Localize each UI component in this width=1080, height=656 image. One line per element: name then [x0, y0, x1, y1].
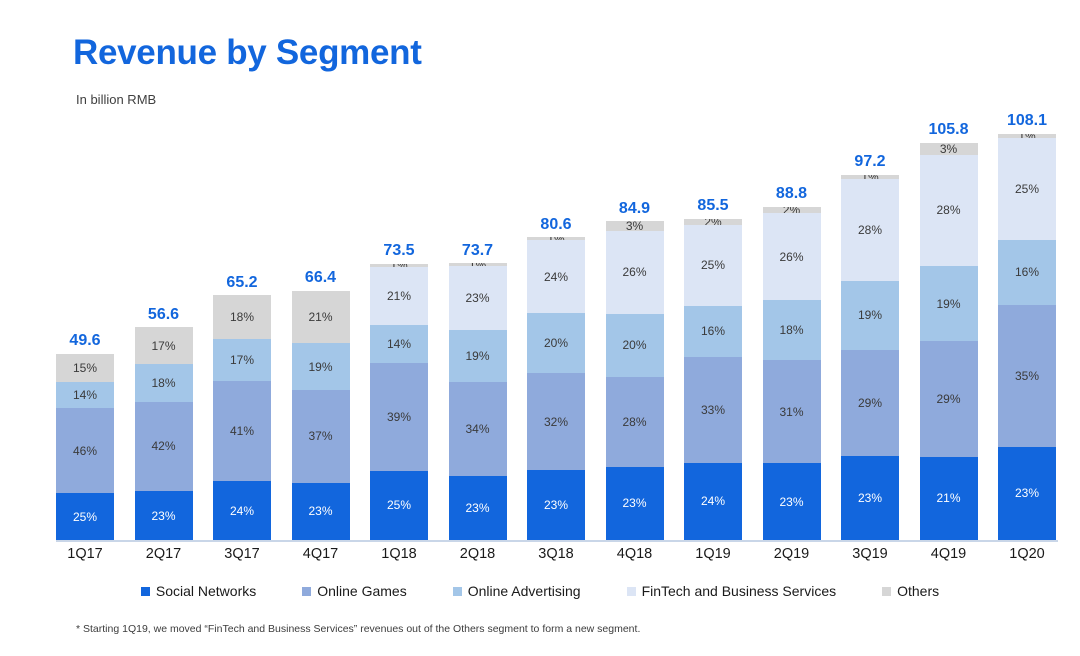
bar-segment-label: 15%	[73, 362, 97, 374]
bar-segment[interactable]: 2%	[763, 207, 821, 214]
bar-segment-label: 19%	[465, 350, 489, 362]
bar-segment-label: 33%	[701, 404, 725, 416]
bar-stack: 17%18%42%23%	[135, 327, 193, 540]
bar-column[interactable]: 88.82%26%18%31%23%	[763, 112, 821, 540]
x-axis-tick-label: 4Q19	[920, 546, 978, 562]
bar-segment-label: 23%	[1015, 487, 1039, 499]
bar-column[interactable]: 65.218%17%41%24%	[213, 112, 271, 540]
bar-segment[interactable]: 21%	[920, 457, 978, 540]
bar-segment[interactable]: 20%	[527, 313, 585, 374]
bar-segment[interactable]: 23%	[292, 483, 350, 540]
bar-segment-label: 17%	[230, 354, 254, 366]
x-axis-tick-label: 3Q19	[841, 546, 899, 562]
bar-group: 49.615%14%46%25%56.617%18%42%23%65.218%1…	[56, 112, 1056, 540]
legend-item[interactable]: Online Games	[302, 583, 406, 599]
bar-segment[interactable]: 23%	[998, 447, 1056, 540]
bar-total-label: 80.6	[540, 216, 571, 234]
bar-segment[interactable]: 20%	[606, 314, 664, 378]
bar-segment-label: 21%	[387, 290, 411, 302]
bar-segment-label: 14%	[73, 389, 97, 401]
bar-segment-label: 41%	[230, 425, 254, 437]
bar-segment-label: 26%	[622, 266, 646, 278]
bar-stack: 3%28%19%29%21%	[920, 143, 978, 540]
bar-segment-label: 28%	[622, 416, 646, 428]
bar-total-label: 73.7	[462, 242, 493, 260]
bar-stack: 2%26%18%31%23%	[763, 207, 821, 541]
x-axis-line	[56, 540, 1058, 542]
bar-column[interactable]: 49.615%14%46%25%	[56, 112, 114, 540]
bar-segment-label: 19%	[858, 309, 882, 321]
bar-segment-label: 16%	[1015, 266, 1039, 278]
bar-segment-label: 46%	[73, 445, 97, 457]
bar-segment-label: 37%	[308, 430, 332, 442]
bar-segment-label: 28%	[858, 224, 882, 236]
bar-segment-label: 26%	[779, 251, 803, 263]
bar-segment[interactable]: 23%	[763, 463, 821, 540]
bar-total-label: 88.8	[776, 185, 807, 203]
bar-segment[interactable]: 26%	[606, 231, 664, 314]
legend-label: Online Games	[317, 583, 406, 599]
bar-segment-label: 19%	[936, 298, 960, 310]
legend-swatch-icon	[302, 587, 311, 596]
bar-total-label: 84.9	[619, 200, 650, 218]
bar-stack: 15%14%46%25%	[56, 354, 114, 540]
bar-segment-label: 23%	[622, 497, 646, 509]
bar-segment-label: 29%	[936, 393, 960, 405]
legend-swatch-icon	[882, 587, 891, 596]
bar-segment-label: 20%	[622, 339, 646, 351]
chart-legend: Social NetworksOnline GamesOnline Advert…	[0, 583, 1080, 599]
x-axis-tick-label: 1Q18	[370, 546, 428, 562]
bar-segment[interactable]: 3%	[606, 221, 664, 231]
bar-segment[interactable]: 19%	[841, 281, 899, 350]
bar-segment-label: 17%	[151, 340, 175, 352]
bar-segment-label: 35%	[1015, 370, 1039, 382]
bar-segment-label: 42%	[151, 440, 175, 452]
bar-segment[interactable]: 24%	[684, 463, 742, 540]
bar-column[interactable]: 80.61%24%20%32%23%	[527, 112, 585, 540]
bar-segment-label: 14%	[387, 338, 411, 350]
x-axis-tick-label: 1Q20	[998, 546, 1056, 562]
bar-segment-label: 2%	[783, 207, 800, 214]
chart-subtitle: In billion RMB	[76, 92, 156, 107]
legend-label: Social Networks	[156, 583, 256, 599]
legend-item[interactable]: FinTech and Business Services	[627, 583, 837, 599]
bar-stack: 1%23%19%34%23%	[449, 263, 507, 540]
bar-stack: 1%21%14%39%25%	[370, 264, 428, 540]
bar-stack: 21%19%37%23%	[292, 291, 350, 540]
bar-segment[interactable]: 25%	[370, 471, 428, 540]
chart-plot-area: 49.615%14%46%25%56.617%18%42%23%65.218%1…	[56, 112, 1056, 540]
x-axis-tick-label: 1Q17	[56, 546, 114, 562]
bar-segment[interactable]: 28%	[606, 377, 664, 466]
legend-item[interactable]: Others	[882, 583, 939, 599]
bar-segment-label: 19%	[308, 361, 332, 373]
bar-segment[interactable]: 46%	[56, 408, 114, 494]
bar-total-label: 56.6	[148, 306, 179, 324]
x-axis-tick-label: 4Q17	[292, 546, 350, 562]
bar-segment[interactable]: 21%	[370, 267, 428, 325]
bar-stack: 1%28%19%29%23%	[841, 175, 899, 540]
legend-swatch-icon	[141, 587, 150, 596]
bar-segment-label: 18%	[230, 311, 254, 323]
bar-segment[interactable]: 23%	[527, 470, 585, 540]
bar-column[interactable]: 73.51%21%14%39%25%	[370, 112, 428, 540]
bar-segment[interactable]: 39%	[370, 363, 428, 471]
bar-segment[interactable]: 17%	[135, 327, 193, 363]
bar-segment[interactable]: 37%	[292, 390, 350, 482]
bar-stack: 2%25%16%33%24%	[684, 219, 742, 540]
bar-segment-label: 23%	[858, 492, 882, 504]
bar-column[interactable]: 66.421%19%37%23%	[292, 112, 350, 540]
bar-total-label: 105.8	[928, 121, 968, 139]
bar-segment-label: 25%	[73, 511, 97, 523]
bar-total-label: 65.2	[226, 274, 257, 292]
bar-column[interactable]: 105.83%28%19%29%21%	[920, 112, 978, 540]
bar-segment[interactable]: 19%	[449, 330, 507, 383]
bar-segment-label: 24%	[544, 271, 568, 283]
bar-total-label: 73.5	[383, 242, 414, 260]
x-axis-tick-label: 1Q19	[684, 546, 742, 562]
bar-segment-label: 18%	[779, 324, 803, 336]
bar-segment[interactable]: 41%	[213, 381, 271, 481]
bar-segment-label: 32%	[544, 416, 568, 428]
bar-segment-label: 25%	[1015, 183, 1039, 195]
bar-segment[interactable]: 23%	[841, 456, 899, 540]
bar-segment-label: 21%	[936, 492, 960, 504]
bar-column[interactable]: 108.11%25%16%35%23%	[998, 112, 1056, 540]
bar-stack: 3%26%20%28%23%	[606, 221, 664, 540]
bar-segment[interactable]: 25%	[684, 225, 742, 305]
bar-segment[interactable]: 24%	[213, 481, 271, 540]
slide-canvas: Revenue by Segment In billion RMB 49.615…	[0, 0, 1080, 656]
bar-segment-label: 23%	[465, 292, 489, 304]
bar-segment[interactable]: 35%	[998, 305, 1056, 447]
bar-total-label: 85.5	[697, 197, 728, 215]
bar-segment[interactable]: 31%	[763, 360, 821, 463]
bar-segment[interactable]: 17%	[213, 339, 271, 381]
bar-segment[interactable]: 29%	[841, 350, 899, 456]
bar-stack: 1%25%16%35%23%	[998, 134, 1056, 540]
bar-column[interactable]: 85.52%25%16%33%24%	[684, 112, 742, 540]
bar-segment[interactable]: 19%	[292, 343, 350, 390]
bar-segment-label: 21%	[308, 311, 332, 323]
x-axis-tick-label: 2Q18	[449, 546, 507, 562]
bar-segment[interactable]: 25%	[56, 493, 114, 540]
bar-total-label: 66.4	[305, 269, 336, 287]
bar-column[interactable]: 56.617%18%42%23%	[135, 112, 193, 540]
bar-segment[interactable]: 18%	[213, 295, 271, 339]
bar-segment[interactable]: 28%	[920, 155, 978, 266]
bar-segment-label: 3%	[940, 143, 957, 155]
legend-swatch-icon	[627, 587, 636, 596]
bar-segment[interactable]: 28%	[841, 179, 899, 281]
x-axis-tick-label: 2Q19	[763, 546, 821, 562]
bar-segment[interactable]: 23%	[449, 476, 507, 540]
bar-segment-label: 25%	[701, 259, 725, 271]
bar-segment-label: 3%	[626, 221, 643, 231]
legend-label: Online Advertising	[468, 583, 581, 599]
bar-segment-label: 31%	[779, 406, 803, 418]
x-axis-tick-label: 3Q17	[213, 546, 271, 562]
bar-segment-label: 18%	[151, 377, 175, 389]
bar-segment[interactable]: 14%	[56, 382, 114, 408]
bar-segment-label: 23%	[308, 505, 332, 517]
bar-segment-label: 23%	[544, 499, 568, 511]
chart-footnote: * Starting 1Q19, we moved “FinTech and B…	[76, 623, 640, 635]
bar-segment-label: 34%	[465, 423, 489, 435]
bar-segment-label: 24%	[230, 505, 254, 517]
bar-segment[interactable]: 21%	[292, 291, 350, 343]
bar-segment[interactable]: 18%	[135, 364, 193, 402]
bar-stack: 18%17%41%24%	[213, 295, 271, 540]
bar-segment-label: 20%	[544, 337, 568, 349]
bar-segment[interactable]: 19%	[920, 266, 978, 341]
bar-segment-label: 25%	[387, 499, 411, 511]
x-axis-tick-label: 3Q18	[527, 546, 585, 562]
bar-segment[interactable]: 14%	[370, 325, 428, 364]
legend-swatch-icon	[453, 587, 462, 596]
bar-total-label: 97.2	[854, 153, 885, 171]
legend-item[interactable]: Online Advertising	[453, 583, 581, 599]
bar-segment-label: 23%	[151, 510, 175, 522]
bar-segment-label: 23%	[779, 496, 803, 508]
bar-segment[interactable]: 23%	[135, 491, 193, 540]
page-title: Revenue by Segment	[73, 33, 422, 73]
legend-label: Others	[897, 583, 939, 599]
bar-segment[interactable]: 16%	[684, 306, 742, 357]
bar-column[interactable]: 73.71%23%19%34%23%	[449, 112, 507, 540]
bar-segment[interactable]: 26%	[763, 213, 821, 300]
bar-segment-label: 16%	[701, 325, 725, 337]
bar-segment[interactable]: 29%	[920, 341, 978, 456]
bar-stack: 1%24%20%32%23%	[527, 237, 585, 540]
bar-segment[interactable]: 42%	[135, 402, 193, 491]
bar-segment[interactable]: 23%	[449, 266, 507, 330]
bar-segment[interactable]: 24%	[527, 240, 585, 313]
bar-segment[interactable]: 32%	[527, 373, 585, 470]
bar-segment[interactable]: 15%	[56, 354, 114, 382]
bar-segment-label: 29%	[858, 397, 882, 409]
bar-segment[interactable]: 33%	[684, 357, 742, 463]
x-axis-tick-label: 2Q17	[135, 546, 193, 562]
bar-segment[interactable]: 23%	[606, 467, 664, 540]
bar-segment-label: 24%	[701, 495, 725, 507]
legend-label: FinTech and Business Services	[642, 583, 837, 599]
bar-segment[interactable]: 25%	[998, 138, 1056, 240]
bar-segment[interactable]: 34%	[449, 382, 507, 476]
bar-column[interactable]: 84.93%26%20%28%23%	[606, 112, 664, 540]
bar-segment-label: 39%	[387, 411, 411, 423]
x-axis-labels: 1Q172Q173Q174Q171Q182Q183Q184Q181Q192Q19…	[56, 546, 1056, 562]
bar-segment[interactable]: 18%	[763, 300, 821, 360]
bar-column[interactable]: 97.21%28%19%29%23%	[841, 112, 899, 540]
bar-segment-label: 28%	[936, 204, 960, 216]
bar-segment[interactable]: 16%	[998, 240, 1056, 305]
bar-segment-label: 23%	[465, 502, 489, 514]
x-axis-tick-label: 4Q18	[606, 546, 664, 562]
bar-total-label: 49.6	[69, 332, 100, 350]
bar-total-label: 108.1	[1007, 112, 1047, 130]
bar-segment[interactable]: 3%	[920, 143, 978, 155]
legend-item[interactable]: Social Networks	[141, 583, 256, 599]
